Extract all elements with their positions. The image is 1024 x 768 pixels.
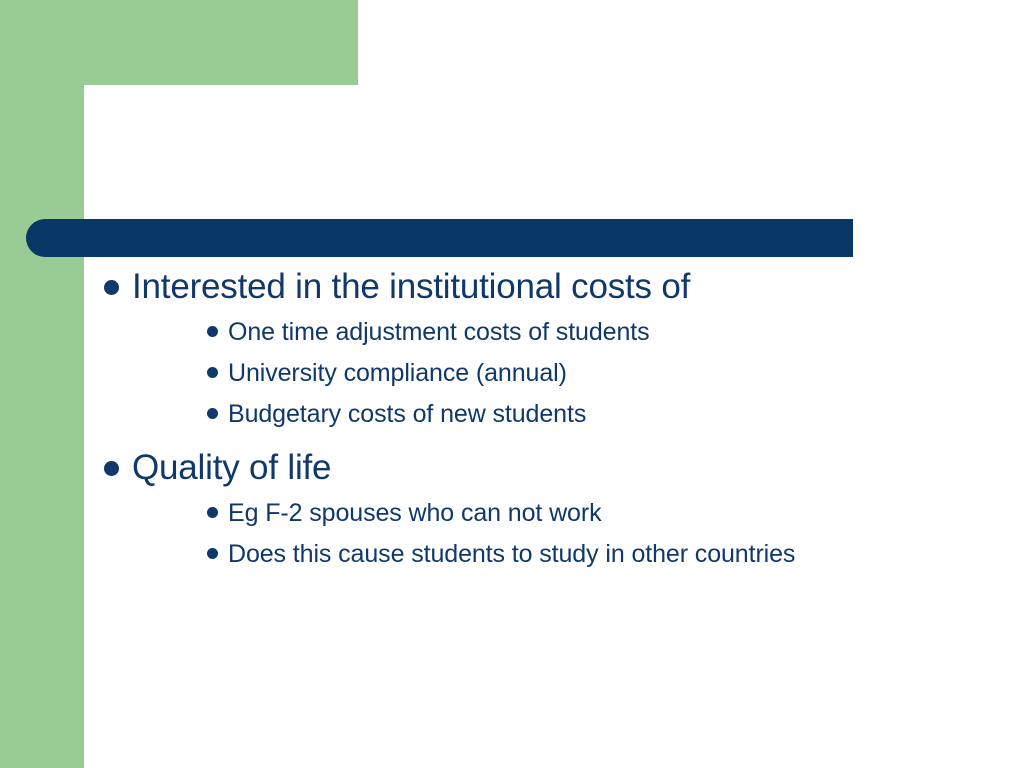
bullet-item-level2: University compliance (annual) bbox=[0, 353, 1024, 394]
bullet-item-level2: Does this cause students to study in oth… bbox=[0, 534, 1024, 575]
green-top-block-decoration bbox=[0, 0, 358, 85]
bullet-item-level2: Eg F-2 spouses who can not work bbox=[0, 493, 1024, 534]
bullet-dot-icon bbox=[104, 280, 119, 295]
bullet-item-level1: Quality of life bbox=[0, 445, 1024, 491]
bullet-text: Eg F-2 spouses who can not work bbox=[228, 493, 601, 534]
bullet-dot-icon bbox=[207, 507, 218, 518]
bullet-item-level2: One time adjustment costs of students bbox=[0, 312, 1024, 353]
bullet-text: Does this cause students to study in oth… bbox=[228, 534, 795, 575]
bullet-dot-icon bbox=[207, 326, 218, 337]
navy-title-bar bbox=[26, 219, 853, 257]
slide-body-content: Interested in the institutional costs of… bbox=[0, 264, 1024, 575]
bullet-dot-icon bbox=[207, 408, 218, 419]
bullet-item-level1: Interested in the institutional costs of bbox=[0, 264, 1024, 310]
bullet-text: Interested in the institutional costs of bbox=[132, 264, 690, 310]
bullet-dot-icon bbox=[207, 367, 218, 378]
bullet-item-level2: Budgetary costs of new students bbox=[0, 394, 1024, 435]
group-spacer bbox=[0, 435, 1024, 445]
bullet-dot-icon bbox=[104, 461, 119, 476]
bullet-text: Quality of life bbox=[132, 445, 331, 491]
bullet-text: One time adjustment costs of students bbox=[228, 312, 650, 353]
bullet-text: University compliance (annual) bbox=[228, 353, 567, 394]
slide-canvas: Interested in the institutional costs of… bbox=[0, 0, 1024, 768]
bullet-text: Budgetary costs of new students bbox=[228, 394, 586, 435]
bullet-dot-icon bbox=[207, 548, 218, 559]
